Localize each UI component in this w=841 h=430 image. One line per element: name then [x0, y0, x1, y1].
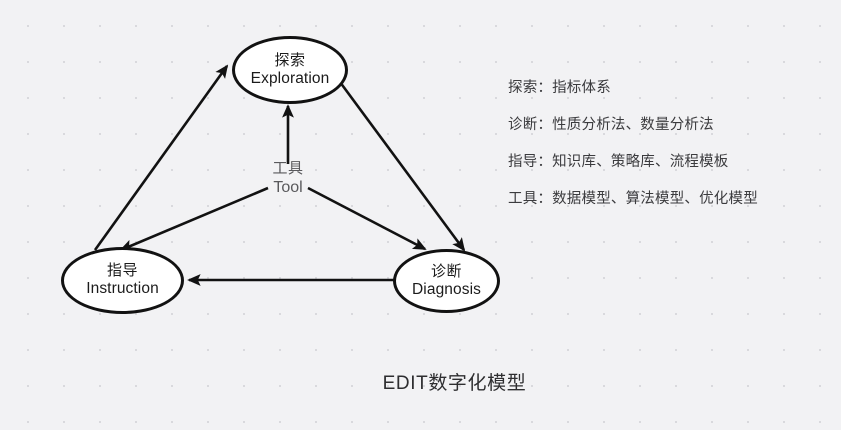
- node-tool-label-cn: 工具: [272, 160, 303, 178]
- edge-layer: [0, 0, 841, 430]
- legend-item-instruction: 指导：知识库、策略库、流程模板: [508, 153, 808, 171]
- node-exploration-label-en: Exploration: [251, 70, 330, 87]
- node-instruction-label-en: Instruction: [86, 280, 159, 297]
- legend: 探索：指标体系 诊断：性质分析法、数量分析法 指导：知识库、策略库、流程模板 工…: [508, 79, 808, 209]
- node-exploration-label-cn: 探索: [274, 53, 305, 70]
- node-instruction[interactable]: 指导 Instruction: [61, 247, 184, 314]
- node-exploration[interactable]: 探索 Exploration: [232, 36, 348, 104]
- node-diagnosis-label-en: Diagnosis: [412, 281, 481, 298]
- diagram-canvas: 探索 Exploration 诊断 Diagnosis 指导 Instructi…: [0, 0, 841, 430]
- legend-item-diagnosis: 诊断：性质分析法、数量分析法: [508, 116, 808, 134]
- diagram-title: EDIT数字化模型: [0, 368, 841, 395]
- edge-tool-to-diagnosis: [308, 188, 425, 249]
- node-diagnosis-label-cn: 诊断: [431, 264, 462, 281]
- edge-tool-to-instruction: [121, 188, 268, 250]
- legend-item-exploration: 探索：指标体系: [508, 79, 808, 97]
- legend-item-tool: 工具：数据模型、算法模型、优化模型: [508, 190, 808, 208]
- node-tool[interactable]: 工具 Tool: [252, 160, 324, 197]
- node-tool-label-en: Tool: [273, 178, 302, 197]
- edge-instruction-to-exploration: [95, 66, 227, 250]
- node-instruction-label-cn: 指导: [107, 263, 138, 280]
- node-diagnosis[interactable]: 诊断 Diagnosis: [393, 249, 500, 313]
- edge-exploration-to-diagnosis: [337, 78, 464, 250]
